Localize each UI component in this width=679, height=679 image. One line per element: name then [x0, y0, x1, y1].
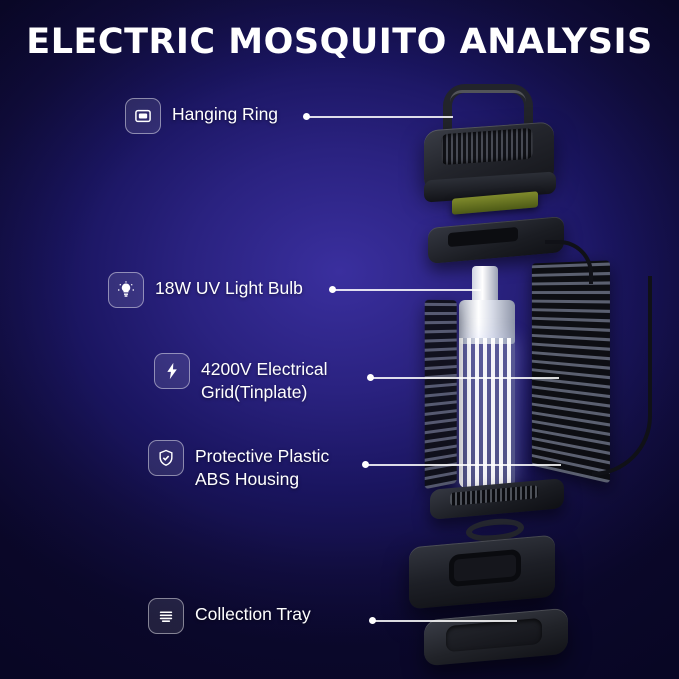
electrical-grid-left-panel: [425, 300, 457, 489]
leader-dot-collection-tray: [369, 617, 376, 624]
callout-uv-light-bulb[interactable]: 18W UV Light Bulb: [108, 272, 303, 308]
leader-line-collection-tray: [371, 620, 517, 622]
handle-highlight: [450, 90, 526, 102]
callout-hanging-ring[interactable]: Hanging Ring: [125, 98, 278, 134]
tray-lines-icon: [148, 598, 184, 634]
callout-label-uv-light-bulb: 18W UV Light Bulb: [155, 272, 303, 300]
leader-dot-hanging-ring: [303, 113, 310, 120]
light-bulb-icon: [108, 272, 144, 308]
power-cord-upper: [545, 240, 593, 284]
leader-dot-abs-housing: [362, 461, 369, 468]
diagram-canvas: ELECTRIC MOSQUITO ANALYSIS: [0, 0, 679, 679]
top-vent-grill: [441, 128, 533, 165]
callout-abs-housing[interactable]: Protective Plastic ABS Housing: [148, 440, 329, 491]
leader-dot-uv-bulb: [329, 286, 336, 293]
leader-line-electrical-grid: [369, 377, 559, 379]
leader-dot-electrical-grid: [367, 374, 374, 381]
power-cord: [592, 276, 652, 476]
callout-collection-tray[interactable]: Collection Tray: [148, 598, 311, 634]
leader-line-uv-bulb: [331, 289, 481, 291]
uv-bulb-neck: [472, 266, 498, 304]
leader-line-hanging-ring: [305, 116, 453, 118]
lightning-bolt-icon: [154, 353, 190, 389]
hanging-ring-icon: [125, 98, 161, 134]
leader-line-abs-housing: [364, 464, 561, 466]
uv-bulb-tubes: [459, 338, 515, 488]
callout-label-abs-housing: Protective Plastic ABS Housing: [195, 440, 329, 491]
page-title: ELECTRIC MOSQUITO ANALYSIS: [0, 22, 679, 62]
shield-icon: [148, 440, 184, 476]
callout-electrical-grid[interactable]: 4200V Electrical Grid(Tinplate): [154, 353, 327, 404]
abs-housing-opening: [449, 549, 521, 587]
callout-label-electrical-grid: 4200V Electrical Grid(Tinplate): [201, 353, 327, 404]
callout-label-collection-tray: Collection Tray: [195, 598, 311, 626]
product-illustration: [0, 0, 679, 679]
callout-label-hanging-ring: Hanging Ring: [172, 98, 278, 126]
